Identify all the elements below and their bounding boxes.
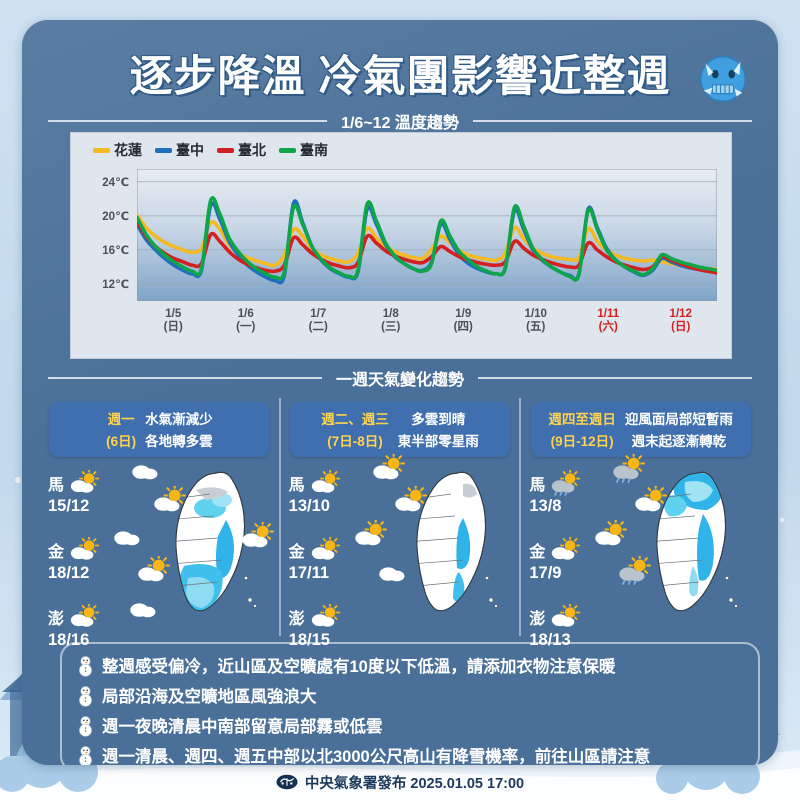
forecast-panels: 週一(6日)水氣漸減少各地轉多雲馬15/12金18/12澎18/16週二、週三(…	[40, 398, 760, 636]
legend-label: 臺中	[176, 140, 204, 160]
temperature-chart-panel: 花蓮臺中臺北臺南 12℃16℃20℃24℃ 1/5(日)1/6(一)1/7(二)…	[70, 132, 732, 359]
x-axis-weekday: (五)	[509, 321, 563, 334]
partly-cloudy-icon	[150, 486, 188, 515]
partly-cloudy-icon	[308, 537, 342, 563]
page-title: 逐步降溫 冷氣團影響近整週	[22, 42, 778, 104]
x-axis-date: 1/12	[654, 308, 708, 321]
map-weather-icon	[391, 486, 429, 520]
x-axis-weekday: (日)	[654, 321, 708, 334]
x-axis-weekday: (三)	[364, 321, 418, 334]
x-axis-date: 1/5	[146, 308, 200, 321]
badge-desc-column: 水氣漸減少各地轉多雲	[145, 408, 213, 450]
trend-divider-right	[478, 377, 752, 379]
y-axis-tick: 16℃	[89, 243, 129, 257]
partly-cloudy-icon	[67, 537, 101, 563]
badge-desc-label: 水氣漸減少	[145, 408, 213, 428]
x-axis-tick: 1/5(日)	[146, 308, 200, 334]
x-axis-tick: 1/7(二)	[291, 308, 345, 334]
x-axis-tick: 1/8(三)	[364, 308, 418, 334]
legend-item-3: 臺南	[279, 140, 328, 160]
partly-cloudy-icon	[134, 556, 172, 585]
partly-cloudy-icon	[591, 520, 629, 549]
subtitle-row: 1/6~12 溫度趨勢	[48, 108, 752, 134]
advisory-note-item: 整週感受偏冷，近山區及空曠處有10度以下低溫，請添加衣物注意保暖	[62, 650, 758, 680]
legend-swatch	[217, 148, 234, 153]
badge-day-column: 週四至週日(9日-12日)	[548, 408, 616, 450]
x-axis-date: 1/10	[509, 308, 563, 321]
legend-label: 臺南	[300, 140, 328, 160]
badge-day-label: (6日)	[106, 430, 136, 450]
city-name: 馬	[48, 471, 64, 495]
forecast-panel-2: 週二、週三(7日-8日)多雲到晴東半部零星雨馬13/10金17/11澎18/15	[279, 398, 520, 636]
partly-cloudy-icon	[238, 522, 276, 551]
partly-cloudy-icon	[369, 454, 407, 483]
x-axis-date: 1/7	[291, 308, 345, 321]
badge-day-label: 週一	[106, 408, 136, 428]
city-name: 金	[529, 538, 545, 562]
x-axis-date: 1/6	[219, 308, 273, 321]
legend-label: 花蓮	[114, 140, 142, 160]
cloud-icon	[126, 592, 164, 621]
forecast-panel-1: 週一(6日)水氣漸減少各地轉多雲馬15/12金18/12澎18/16	[40, 398, 279, 636]
partly-cloudy-icon	[67, 470, 101, 496]
partly-cloudy-icon	[631, 486, 669, 515]
x-axis-date: 1/9	[436, 308, 490, 321]
trend-divider-left	[48, 377, 322, 379]
legend-label: 臺北	[238, 140, 266, 160]
partly-cloudy-icon	[67, 604, 101, 630]
y-axis-tick: 24℃	[89, 175, 129, 189]
badge-desc-label: 迎風面局部短暫雨	[625, 408, 733, 428]
map-weather-icon	[375, 556, 413, 590]
rain-cloud-icon	[548, 470, 582, 496]
y-axis-tick: 20℃	[89, 209, 129, 223]
badge-desc-column: 迎風面局部短暫雨週末起逐漸轉乾	[625, 408, 733, 450]
badge-day-label: (9日-12日)	[548, 430, 616, 450]
legend-item-0: 花蓮	[93, 140, 142, 160]
map-weather-icon	[150, 486, 188, 520]
map-weather-icon	[351, 520, 389, 554]
chart-legend: 花蓮臺中臺北臺南	[93, 140, 328, 160]
divider-right	[473, 120, 752, 122]
badge-desc-label: 多雲到晴	[398, 408, 479, 428]
forecast-badge: 週一(6日)水氣漸減少各地轉多雲	[49, 402, 269, 457]
advisory-note-item: 局部沿海及空曠地區風強浪大	[62, 680, 758, 710]
x-axis-tick: 1/10(五)	[509, 308, 563, 334]
legend-swatch	[93, 148, 110, 153]
advisory-note-text: 週一夜晚清晨中南部留意局部霧或低雲	[102, 713, 383, 737]
snowman-icon	[76, 744, 95, 766]
partly-cloudy-icon	[308, 604, 342, 630]
map-weather-icon	[609, 454, 647, 488]
badge-day-label: 週二、週三	[321, 408, 389, 428]
city-name: 金	[289, 538, 305, 562]
cloud-icon	[375, 556, 413, 585]
legend-swatch	[279, 148, 296, 153]
footer: 中央氣象署發布 2025.01.05 17:00	[0, 770, 800, 794]
map-weather-icon	[591, 520, 629, 554]
forecast-badge: 週二、週三(7日-8日)多雲到晴東半部零星雨	[290, 402, 510, 457]
map-weather-icon	[238, 522, 276, 556]
map-weather-icon	[134, 556, 172, 590]
city-name: 馬	[529, 471, 545, 495]
advisory-note-text: 局部沿海及空曠地區風強浪大	[102, 683, 317, 707]
partly-cloudy-icon	[308, 470, 342, 496]
divider-left	[48, 120, 327, 122]
badge-desc-column: 多雲到晴東半部零星雨	[398, 408, 479, 450]
badge-day-label: 週四至週日	[548, 408, 616, 428]
advisory-note-text: 整週感受偏冷，近山區及空曠處有10度以下低溫，請添加衣物注意保暖	[102, 653, 615, 677]
map-weather-icon	[128, 454, 166, 488]
city-name: 金	[48, 538, 64, 562]
forecast-panel-3: 週四至週日(9日-12日)迎風面局部短暫雨週末起逐漸轉乾馬13/8金17/9澎1…	[519, 398, 760, 636]
partly-cloudy-icon	[548, 604, 582, 630]
rain-cloud-icon	[615, 556, 653, 585]
map-area	[359, 460, 527, 632]
snowman-icon	[76, 714, 95, 737]
trend-heading: 一週天氣變化趨勢	[336, 366, 464, 390]
badge-day-label: (7日-8日)	[321, 430, 389, 450]
city-name: 澎	[289, 605, 305, 629]
cloud-icon	[110, 520, 148, 549]
badge-desc-label: 東半部零星雨	[398, 430, 479, 450]
chart-subtitle: 1/6~12 溫度趨勢	[341, 109, 459, 133]
legend-item-2: 臺北	[217, 140, 266, 160]
snowman-icon	[76, 654, 95, 677]
map-area	[599, 460, 767, 632]
advisory-note-text: 週一清晨、週四、週五中部以北3000公尺高山有降雪機率，前往山區請注意	[102, 743, 650, 765]
advisory-note-item: 週一夜晚清晨中南部留意局部霧或低雲	[62, 710, 758, 740]
x-axis-tick: 1/6(一)	[219, 308, 273, 334]
x-axis-date: 1/11	[581, 308, 635, 321]
infographic-card: 逐步降溫 冷氣團影響近整週 1/6~12 溫度趨勢 花蓮臺中臺北臺南 12℃16…	[22, 20, 778, 765]
partly-cloudy-icon	[351, 520, 389, 549]
advisory-note-item: 週一清晨、週四、週五中部以北3000公尺高山有降雪機率，前往山區請注意	[62, 740, 758, 765]
x-axis-weekday: (日)	[146, 321, 200, 334]
cloud-icon	[128, 454, 166, 483]
x-axis-tick: 1/9(四)	[436, 308, 490, 334]
y-axis-tick: 12℃	[89, 277, 129, 291]
partly-cloudy-icon	[391, 486, 429, 515]
x-axis-weekday: (六)	[581, 321, 635, 334]
chart-plot-area	[137, 169, 717, 301]
badge-day-column: 週一(6日)	[106, 408, 136, 450]
map-weather-icon	[369, 454, 407, 488]
x-axis-weekday: (二)	[291, 321, 345, 334]
map-weather-icon	[126, 592, 164, 626]
partly-cloudy-icon	[548, 537, 582, 563]
map-area	[118, 460, 286, 632]
x-axis-tick: 1/11(六)	[581, 308, 635, 334]
map-weather-icon	[631, 486, 669, 520]
map-weather-icon	[110, 520, 148, 554]
cold-face-icon	[692, 48, 754, 110]
city-name: 澎	[529, 605, 545, 629]
forecast-badge: 週四至週日(9日-12日)迎風面局部短暫雨週末起逐漸轉乾	[531, 402, 751, 457]
x-axis-tick: 1/12(日)	[654, 308, 708, 334]
advisory-notes-box: 整週感受偏冷，近山區及空曠處有10度以下低溫，請添加衣物注意保暖局部沿海及空曠地…	[60, 642, 760, 765]
legend-item-1: 臺中	[155, 140, 204, 160]
rain-cloud-icon	[609, 454, 647, 483]
badge-desc-label: 各地轉多雲	[145, 430, 213, 450]
x-axis-weekday: (四)	[436, 321, 490, 334]
x-axis-date: 1/8	[364, 308, 418, 321]
badge-desc-label: 週末起逐漸轉乾	[625, 430, 733, 450]
map-weather-icon	[615, 556, 653, 590]
trend-heading-row: 一週天氣變化趨勢	[48, 365, 752, 391]
city-name: 馬	[289, 471, 305, 495]
x-axis-weekday: (一)	[219, 321, 273, 334]
legend-swatch	[155, 148, 172, 153]
snowman-icon	[76, 684, 95, 707]
cwa-logo-icon	[276, 774, 298, 790]
city-name: 澎	[48, 605, 64, 629]
footer-text: 中央氣象署發布 2025.01.05 17:00	[305, 772, 524, 793]
badge-day-column: 週二、週三(7日-8日)	[321, 408, 389, 450]
